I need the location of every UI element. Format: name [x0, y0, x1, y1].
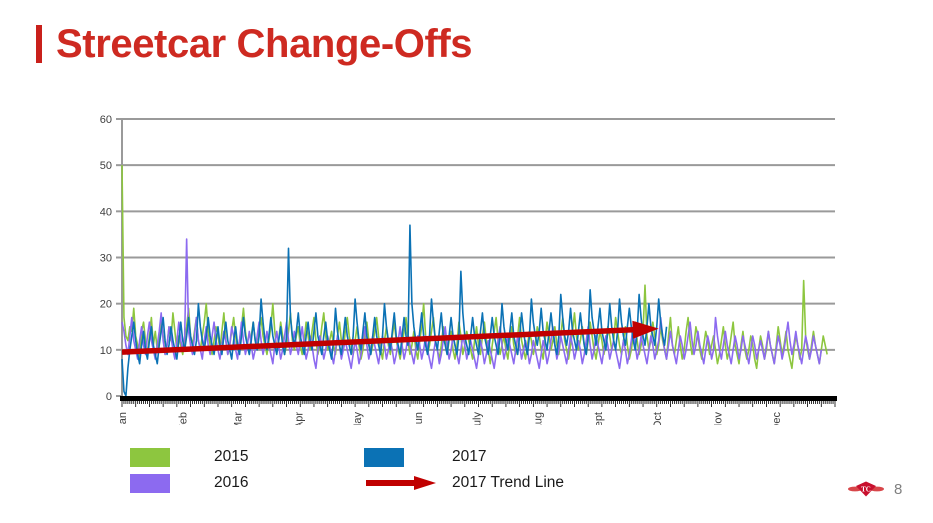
chart-plot-container: 0102030405060 JanFebMarAprMayJunJulyAugS… [0, 95, 860, 425]
svg-text:10: 10 [100, 345, 112, 357]
svg-text:July: July [472, 412, 484, 425]
legend-arrow-icon [364, 475, 440, 491]
chart-legend: 2015 2017 2016 2017 Trend Line [130, 444, 550, 496]
chart-series-group [122, 165, 827, 396]
legend-label-2016: 2016 [214, 474, 364, 492]
legend-swatch-2016 [130, 474, 170, 493]
legend-label-trendline: 2017 Trend Line [452, 474, 612, 492]
svg-text:Jan: Jan [117, 412, 129, 425]
legend-label-2015: 2015 [214, 448, 364, 466]
svg-text:Dec: Dec [771, 412, 783, 425]
legend-label-2017: 2017 [452, 448, 612, 466]
streetcar-changeoffs-line-chart: 0102030405060 JanFebMarAprMayJunJulyAugS… [0, 95, 860, 425]
svg-text:40: 40 [100, 206, 112, 218]
slide-footer: TC 8 [848, 480, 902, 498]
svg-text:Aug: Aug [532, 412, 544, 425]
svg-text:30: 30 [100, 253, 112, 265]
chart-y-axis-ticks: 0102030405060 [100, 114, 122, 403]
page-title: Streetcar Change-Offs [56, 24, 472, 64]
svg-text:Mar: Mar [233, 412, 245, 425]
svg-text:Apr: Apr [293, 412, 305, 425]
svg-text:50: 50 [100, 160, 112, 172]
page-number: 8 [894, 481, 902, 498]
svg-text:Oct: Oct [652, 412, 664, 425]
svg-text:0: 0 [106, 391, 112, 403]
chart-x-axis [120, 396, 837, 407]
svg-text:Nov: Nov [712, 412, 724, 425]
svg-text:Feb: Feb [178, 412, 190, 425]
slide-canvas: Streetcar Change-Offs Streetcar Change-o… [0, 0, 933, 523]
chart-x-axis-labels: JanFebMarAprMayJunJulyAugSeptOctNovDec [117, 412, 783, 425]
legend-swatch-2015 [130, 448, 170, 467]
svg-text:TC: TC [861, 486, 871, 494]
svg-text:20: 20 [100, 299, 112, 311]
ttc-logo-icon: TC [848, 480, 884, 498]
svg-text:Jun: Jun [413, 412, 425, 425]
slide-title-row: Streetcar Change-Offs [36, 24, 472, 64]
legend-swatch-2017 [364, 448, 404, 467]
svg-text:May: May [352, 412, 364, 425]
title-accent-bar [36, 25, 42, 63]
svg-text:Sept: Sept [593, 412, 605, 425]
svg-text:60: 60 [100, 114, 112, 126]
